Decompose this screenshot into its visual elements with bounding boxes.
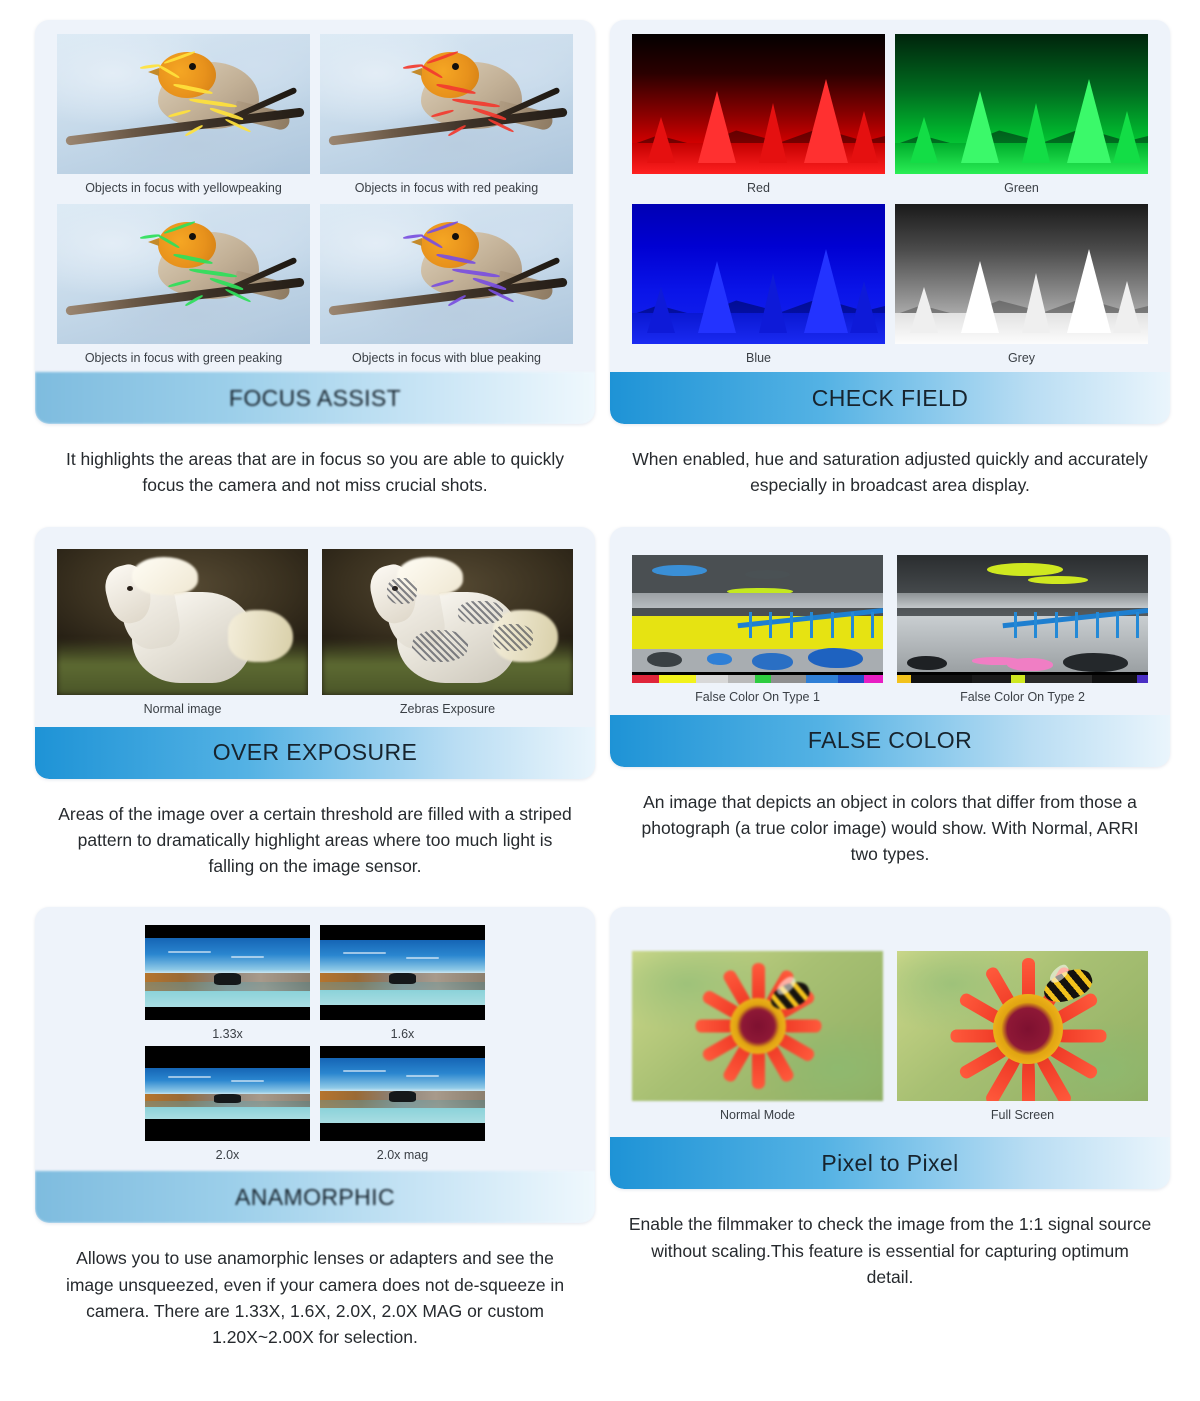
tile-caption: Red xyxy=(632,174,885,196)
flower-photo-full-screen xyxy=(897,951,1148,1101)
tile-yellow-peaking: Objects in focus with yellowpeaking xyxy=(57,34,310,196)
tile-caption: Grey xyxy=(895,344,1148,366)
feature-card: False Color On Type 1 xyxy=(610,527,1170,767)
tile-caption: Green xyxy=(895,174,1148,196)
tile-caption: Objects in focus with green peaking xyxy=(57,344,310,366)
tile-caption: Objects in focus with blue peaking xyxy=(320,344,573,366)
bird-photo-red-peaking xyxy=(320,34,573,174)
tile-caption: 1.33x xyxy=(145,1020,310,1042)
feature-title: Pixel to Pixel xyxy=(821,1150,958,1177)
tile-anamorphic-20x: 2.0x xyxy=(145,1046,310,1163)
feature-focus-assist: Objects in focus with yellowpeaking xyxy=(35,20,595,499)
feature-title-banner: CHECK FIELD xyxy=(610,372,1170,424)
forest-photo-blue-field xyxy=(632,204,885,344)
tile-grid: False Color On Type 1 xyxy=(632,555,1148,705)
bird-photo-yellow-peaking xyxy=(57,34,310,174)
card-media-area: Normal Mode xyxy=(610,907,1170,1137)
feature-description: When enabled, hue and saturation adjuste… xyxy=(610,424,1170,499)
flower-center-disc xyxy=(993,994,1063,1064)
feature-title: CHECK FIELD xyxy=(812,385,968,412)
feature-card: Red Green xyxy=(610,20,1170,424)
feature-false-color: False Color On Type 1 xyxy=(610,527,1170,880)
feature-title-banner: FOCUS ASSIST xyxy=(35,372,595,424)
tile-caption: Objects in focus with yellowpeaking xyxy=(57,174,310,196)
feature-description: Enable the filmmaker to check the image … xyxy=(610,1189,1170,1290)
tile-caption: Normal image xyxy=(57,695,308,717)
feature-description: Allows you to use anamorphic lenses or a… xyxy=(35,1223,595,1350)
pier-bridge xyxy=(737,608,883,652)
feature-title: FALSE COLOR xyxy=(808,727,972,754)
feature-title: FOCUS ASSIST xyxy=(229,385,401,412)
tile-zebras-exposure: Zebras Exposure xyxy=(322,549,573,717)
tile-false-color-type-2: False Color On Type 2 xyxy=(897,555,1148,705)
tile-green-field: Green xyxy=(895,34,1148,196)
tile-full-screen: Full Screen xyxy=(897,951,1148,1123)
feature-card: Objects in focus with yellowpeaking xyxy=(35,20,595,424)
tile-grid: Red Green xyxy=(632,34,1148,366)
feature-description: Areas of the image over a certain thresh… xyxy=(35,779,595,880)
card-media-area: False Color On Type 1 xyxy=(610,527,1170,715)
card-media-area: 1.33x 1.6x xyxy=(35,907,595,1171)
pier-photo-false-color-type-1 xyxy=(632,555,883,683)
feature-card: Normal image Zebras Exposure xyxy=(35,527,595,779)
tile-blue-field: Blue xyxy=(632,204,885,366)
card-media-area: Objects in focus with yellowpeaking xyxy=(35,20,595,372)
tile-green-peaking: Objects in focus with green peaking xyxy=(57,204,310,366)
tile-grid: Normal Mode xyxy=(632,951,1148,1123)
tile-false-color-type-1: False Color On Type 1 xyxy=(632,555,883,705)
landscape-photo-133x xyxy=(145,925,310,1020)
feature-title-banner: FALSE COLOR xyxy=(610,715,1170,767)
tile-caption: Objects in focus with red peaking xyxy=(320,174,573,196)
tile-caption: 2.0x xyxy=(145,1141,310,1163)
feature-title-banner: OVER EXPOSURE xyxy=(35,727,595,779)
bird-photo-green-peaking xyxy=(57,204,310,344)
feature-pixel-to-pixel: Normal Mode xyxy=(610,907,1170,1350)
tile-caption: False Color On Type 1 xyxy=(632,683,883,705)
feature-description: An image that depicts an object in color… xyxy=(610,767,1170,868)
feature-grid: Objects in focus with yellowpeaking xyxy=(0,0,1200,1350)
landscape-photo-20x xyxy=(145,1046,310,1141)
pier-bridge xyxy=(1002,608,1148,652)
feature-card: Normal Mode xyxy=(610,907,1170,1189)
false-color-scale-bar xyxy=(632,675,883,683)
tile-grey-field: Grey xyxy=(895,204,1148,366)
feature-title: ANAMORPHIC xyxy=(235,1184,395,1211)
bird-photo-blue-peaking xyxy=(320,204,573,344)
feature-title-banner: Pixel to Pixel xyxy=(610,1137,1170,1189)
feature-title: OVER EXPOSURE xyxy=(213,739,418,766)
tile-grid: 1.33x 1.6x xyxy=(145,925,485,1163)
horse-photo-zebras xyxy=(322,549,573,695)
flower-photo-normal-mode xyxy=(632,951,883,1101)
tile-anamorphic-16x: 1.6x xyxy=(320,925,485,1042)
tile-anamorphic-20x-mag: 2.0x mag xyxy=(320,1046,485,1163)
tile-normal-mode: Normal Mode xyxy=(632,951,883,1123)
tile-anamorphic-133x: 1.33x xyxy=(145,925,310,1042)
landscape-photo-20x-mag xyxy=(320,1046,485,1141)
landscape-photo-16x xyxy=(320,925,485,1020)
tile-caption: Normal Mode xyxy=(632,1101,883,1123)
feature-title-banner: ANAMORPHIC xyxy=(35,1171,595,1223)
forest-photo-green-field xyxy=(895,34,1148,174)
tile-red-peaking: Objects in focus with red peaking xyxy=(320,34,573,196)
pier-photo-false-color-type-2 xyxy=(897,555,1148,683)
tile-blue-peaking: Objects in focus with blue peaking xyxy=(320,204,573,366)
horse-photo-normal xyxy=(57,549,308,695)
tile-grid: Normal image Zebras Exposure xyxy=(57,549,573,717)
tile-red-field: Red xyxy=(632,34,885,196)
feature-card: 1.33x 1.6x xyxy=(35,907,595,1223)
card-media-area: Normal image Zebras Exposure xyxy=(35,527,595,727)
forest-photo-grey-field xyxy=(895,204,1148,344)
forest-photo-red-field xyxy=(632,34,885,174)
tile-caption: False Color On Type 2 xyxy=(897,683,1148,705)
feature-anamorphic: 1.33x 1.6x xyxy=(35,907,595,1350)
tile-caption: Zebras Exposure xyxy=(322,695,573,717)
tile-caption: 1.6x xyxy=(320,1020,485,1042)
tile-caption: Full Screen xyxy=(897,1101,1148,1123)
feature-description: It highlights the areas that are in focu… xyxy=(35,424,595,499)
tile-grid: Objects in focus with yellowpeaking xyxy=(57,34,573,366)
card-media-area: Red Green xyxy=(610,20,1170,372)
tile-normal-image: Normal image xyxy=(57,549,308,717)
false-color-scale-bar xyxy=(897,675,1148,683)
feature-over-exposure: Normal image Zebras Exposure xyxy=(35,527,595,880)
feature-check-field: Red Green xyxy=(610,20,1170,499)
tile-caption: 2.0x mag xyxy=(320,1141,485,1163)
tile-caption: Blue xyxy=(632,344,885,366)
